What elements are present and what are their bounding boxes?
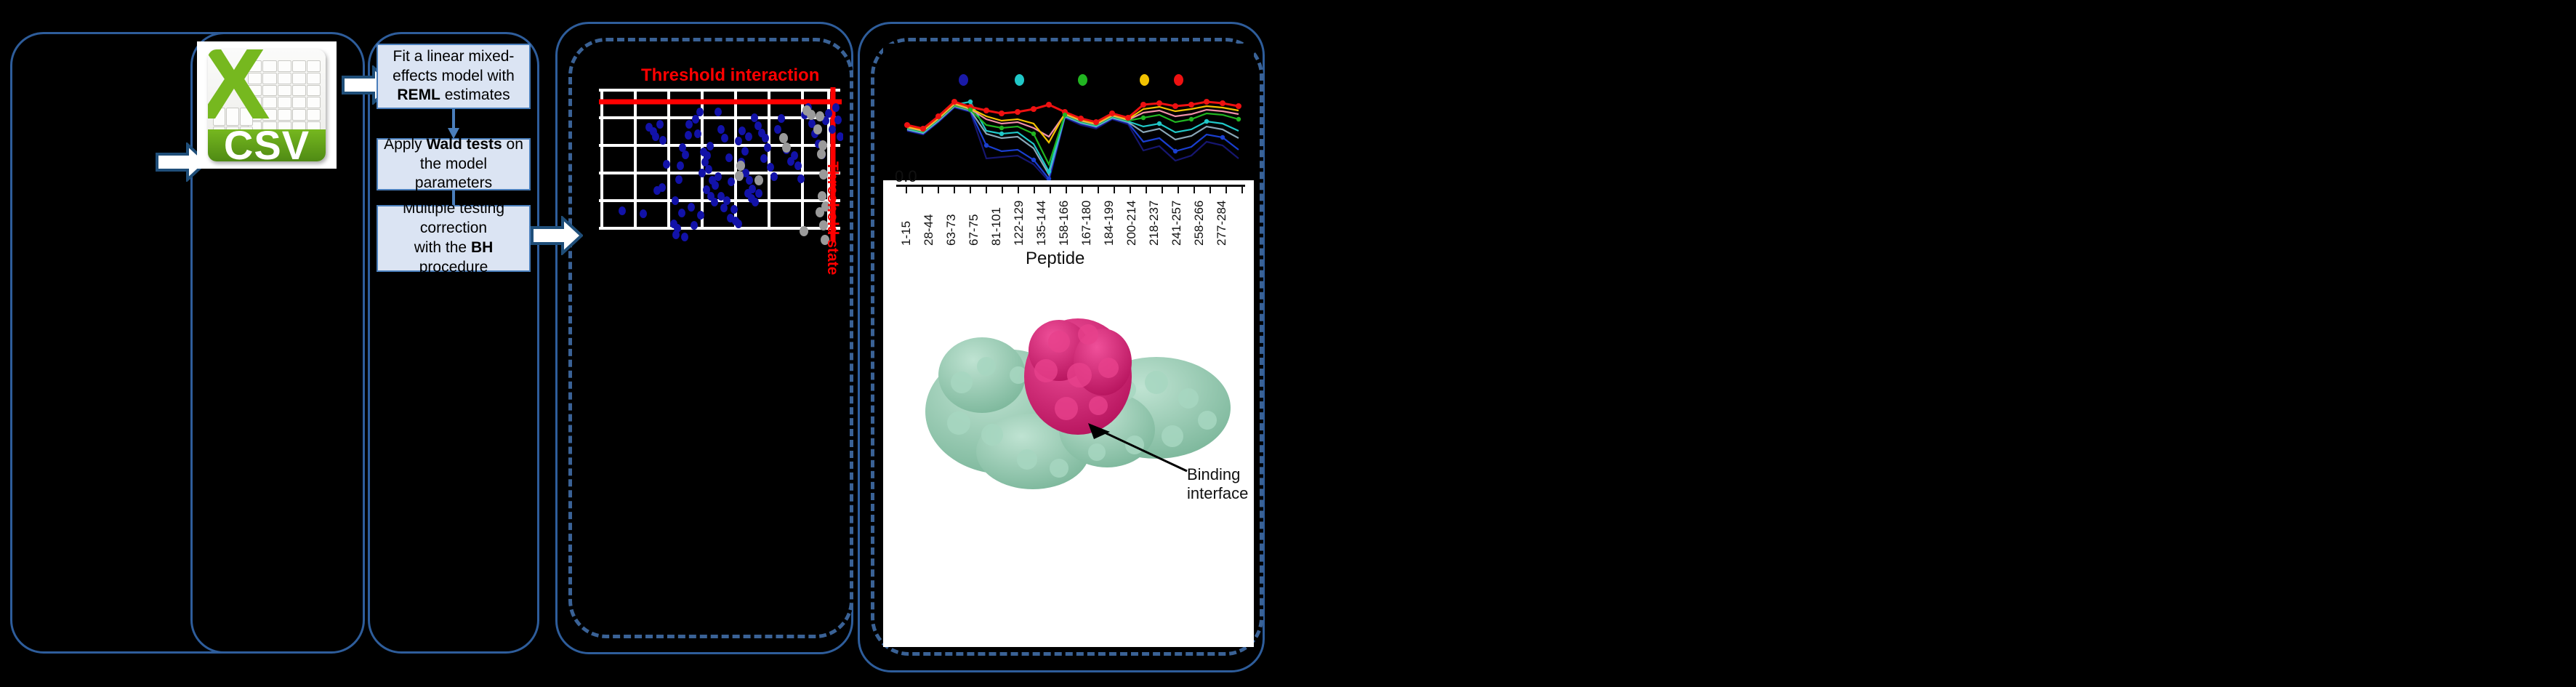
binding-interface-line2: interface xyxy=(1187,484,1248,503)
process-box-wald-text: Apply Wald tests onthe model parameters xyxy=(378,135,529,194)
scatter-plot-svg xyxy=(596,86,843,260)
peptide-tick-label: 167-180 xyxy=(1079,192,1094,246)
csv-format-label: CSV xyxy=(224,121,310,161)
peptide-tick-label: 241-257 xyxy=(1170,192,1184,246)
peptide-tick-label: 258-266 xyxy=(1192,192,1207,246)
process-box-correction-text: Multiple testingcorrectionwith the BH pr… xyxy=(378,199,529,278)
legend-dot-s5 xyxy=(1174,74,1183,86)
peptide-line-chart-svg xyxy=(883,89,1254,183)
binding-interface-annotation: Binding interface xyxy=(1187,465,1248,503)
peptide-tick-label: 67-75 xyxy=(967,192,981,246)
peptide-tick-label: 28-44 xyxy=(922,192,936,246)
legend-dot-s4 xyxy=(1140,74,1149,86)
flow-arrow-3 xyxy=(531,216,583,255)
legend-dot-s1 xyxy=(959,74,968,86)
threshold-interaction-label: Threshold interaction xyxy=(641,65,819,86)
peptide-tick-label: 135-144 xyxy=(1034,192,1049,246)
peptide-tick-label: 122-129 xyxy=(1012,192,1026,246)
binding-interface-line1: Binding xyxy=(1187,465,1248,484)
peptide-tick-label: 200-214 xyxy=(1124,192,1139,246)
peptide-tick-labels: 1-15 28-44 63-73 67-75 81-101 122-129 13… xyxy=(899,192,1255,246)
peptide-tick-label: 277-284 xyxy=(1215,192,1229,246)
legend-dot-s2 xyxy=(1015,74,1024,86)
process-box-model-text: Fit a linear mixed-effects model withREM… xyxy=(388,47,519,106)
y-axis-tick-label: 0.0 xyxy=(895,167,917,186)
peptide-tick-label: 158-166 xyxy=(1057,192,1071,246)
peptide-white-area: 0.0 1 xyxy=(883,180,1254,647)
threshold-state-label: Threshold state xyxy=(824,161,841,275)
x-axis-title: Peptide xyxy=(1026,249,1084,269)
csv-icon-band: CSV xyxy=(208,129,325,161)
peptide-tick-label: 184-199 xyxy=(1102,192,1116,246)
process-box-correction[interactable]: Multiple testingcorrectionwith the BH pr… xyxy=(377,205,531,272)
peptide-figure: 0.0 1 xyxy=(883,44,1254,647)
excel-x-icon: X xyxy=(213,52,255,110)
peptide-tick-label: 81-101 xyxy=(989,192,1004,246)
csv-icon-body: X CSV xyxy=(208,49,325,161)
process-box-wald[interactable]: Apply Wald tests onthe model parameters xyxy=(377,138,531,190)
csv-file-icon: X CSV xyxy=(197,41,337,169)
peptide-tick-label: 63-73 xyxy=(944,192,959,246)
threshold-scatter-figure: Threshold interaction xyxy=(596,65,843,240)
process-box-model[interactable]: Fit a linear mixed-effects model withREM… xyxy=(377,44,531,109)
legend-dot-s3 xyxy=(1078,74,1087,86)
x-axis-ticks xyxy=(896,185,1245,192)
peptide-tick-label: 1-15 xyxy=(899,192,914,246)
peptide-tick-label: 218-237 xyxy=(1147,192,1162,246)
